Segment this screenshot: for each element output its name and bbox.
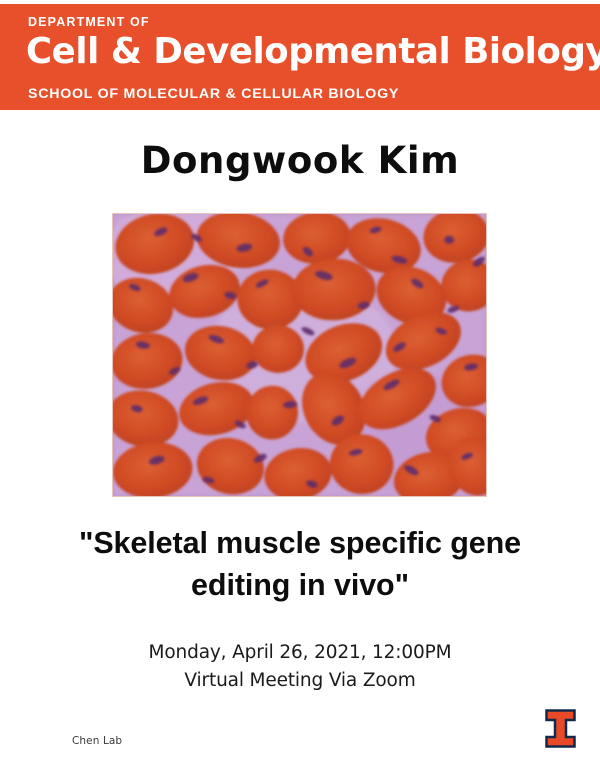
muscle-micrograph-image [112,213,487,497]
department-banner: DEPARTMENT OF Cell & Developmental Biolo… [0,4,600,110]
event-location: Virtual Meeting Via Zoom [0,667,600,695]
department-name: Cell & Developmental Biology [26,31,600,74]
micrograph-canvas [113,214,486,496]
talk-title: "Skeletal muscle specific gene editing i… [30,522,570,606]
lab-credit: Chen Lab [72,736,122,747]
illinois-block-i-logo [545,709,576,748]
speaker-name: Dongwook Kim [0,140,600,183]
department-eyebrow: DEPARTMENT OF [28,16,150,29]
event-details: Monday, April 26, 2021, 12:00PM Virtual … [0,639,600,695]
seminar-flyer: DEPARTMENT OF Cell & Developmental Biolo… [0,0,600,777]
event-datetime: Monday, April 26, 2021, 12:00PM [0,639,600,667]
block-i-icon [545,709,576,748]
school-name: SCHOOL OF MOLECULAR & CELLULAR BIOLOGY [28,87,399,101]
banner-text-block: DEPARTMENT OF Cell & Developmental Biolo… [28,4,590,110]
